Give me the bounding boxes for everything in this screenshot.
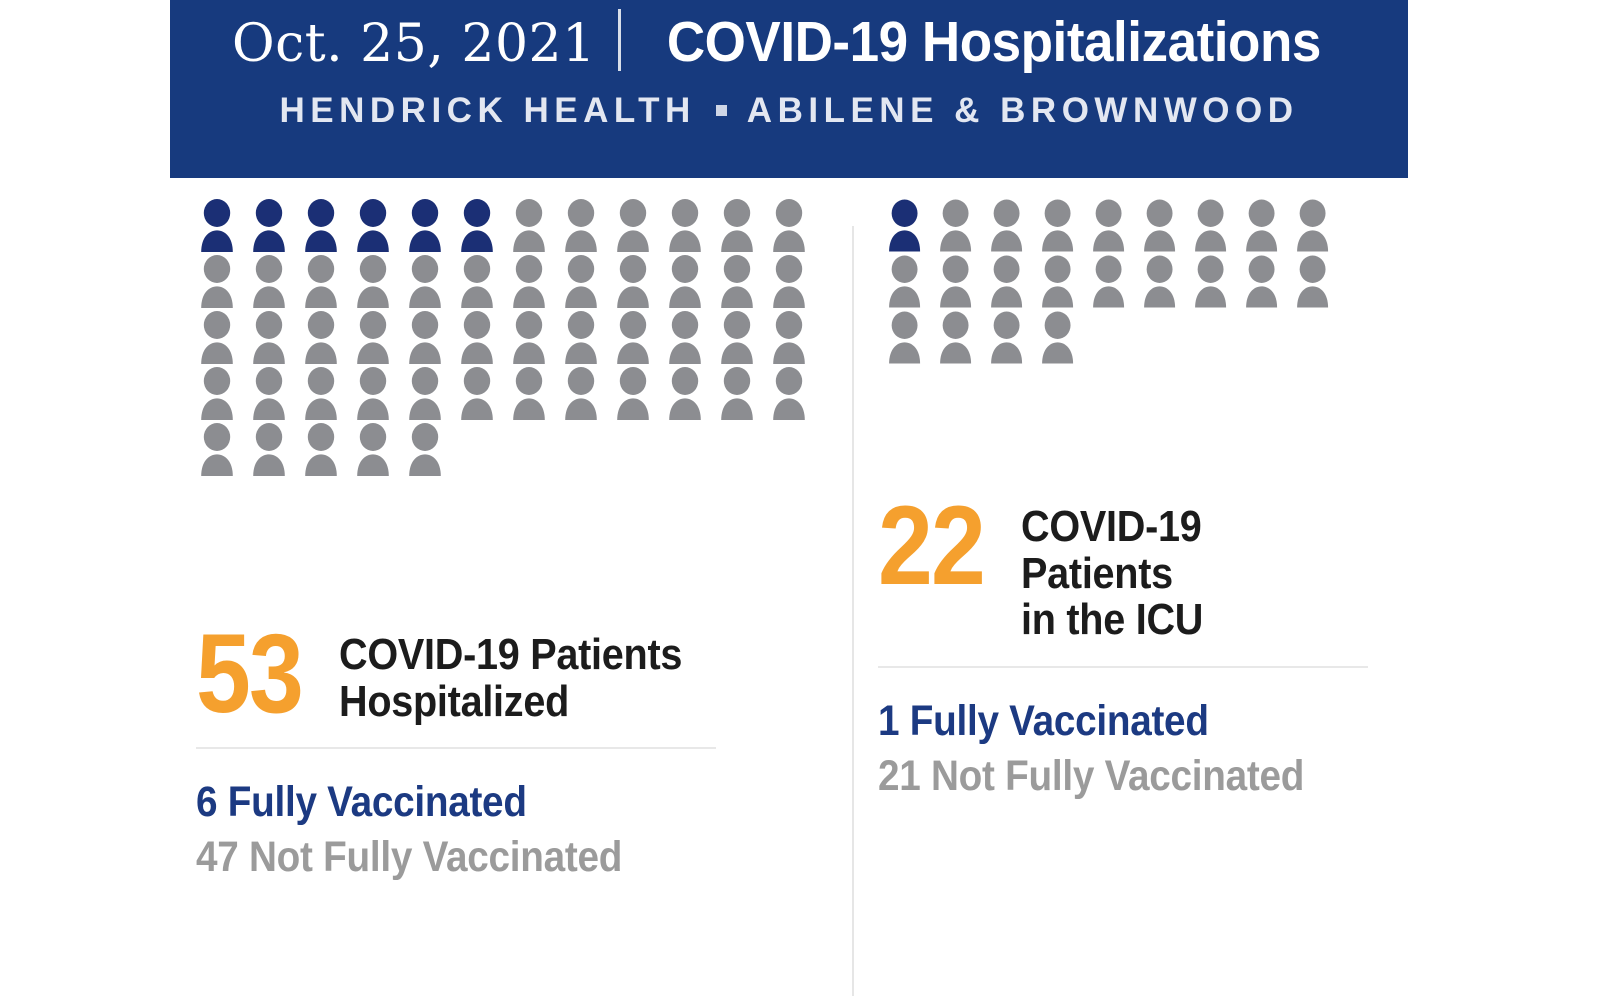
person-icon-not-vaccinated <box>1139 198 1190 254</box>
square-bullet-icon <box>716 105 727 116</box>
person-icon-not-vaccinated <box>1088 198 1139 254</box>
person-icon-not-vaccinated <box>664 366 716 422</box>
pictogram-row <box>196 310 846 366</box>
pictogram-row <box>884 198 1384 254</box>
person-icon-not-vaccinated <box>352 254 404 310</box>
person-icon-not-vaccinated <box>404 310 456 366</box>
person-icon-not-vaccinated <box>508 310 560 366</box>
person-icon-vaccinated <box>352 198 404 254</box>
hospitalized-vaccinated: 6 Fully Vaccinated <box>196 775 700 830</box>
person-icon-not-vaccinated <box>716 310 768 366</box>
person-icon-not-vaccinated <box>508 198 560 254</box>
person-icon-not-vaccinated <box>768 310 820 366</box>
person-icon-not-vaccinated <box>456 366 508 422</box>
person-icon-not-vaccinated <box>768 254 820 310</box>
person-icon-not-vaccinated <box>560 310 612 366</box>
person-icon-not-vaccinated <box>196 422 248 478</box>
person-icon-not-vaccinated <box>1088 254 1139 310</box>
person-icon-not-vaccinated <box>716 366 768 422</box>
person-icon-not-vaccinated <box>508 254 560 310</box>
person-icon-vaccinated <box>300 198 352 254</box>
person-icon-not-vaccinated <box>300 422 352 478</box>
pictogram-row <box>196 254 846 310</box>
person-icon-not-vaccinated <box>300 366 352 422</box>
person-icon-not-vaccinated <box>1190 198 1241 254</box>
icu-label: COVID-19 Patients in the ICU <box>1021 497 1361 644</box>
icu-pictogram-grid <box>884 198 1384 366</box>
person-icon-not-vaccinated <box>404 366 456 422</box>
person-icon-vaccinated <box>196 198 248 254</box>
person-icon-not-vaccinated <box>768 366 820 422</box>
person-icon-not-vaccinated <box>935 198 986 254</box>
person-icon-not-vaccinated <box>1139 254 1190 310</box>
person-icon-not-vaccinated <box>248 310 300 366</box>
pictogram-row <box>196 422 846 478</box>
column-divider <box>852 226 854 996</box>
person-icon-not-vaccinated <box>884 310 935 366</box>
person-icon-not-vaccinated <box>768 198 820 254</box>
person-icon-not-vaccinated <box>560 254 612 310</box>
person-icon-not-vaccinated <box>612 366 664 422</box>
hospitalized-pictogram-grid <box>196 198 846 478</box>
person-icon-not-vaccinated <box>248 366 300 422</box>
icu-stat-block: 22 COVID-19 Patients in the ICU 1 Fully … <box>878 497 1398 804</box>
person-icon-not-vaccinated <box>664 198 716 254</box>
header-title-row: Oct. 25, 2021 COVID-19 Hospitalizations <box>170 14 1408 71</box>
person-icon-not-vaccinated <box>716 254 768 310</box>
person-icon-not-vaccinated <box>986 198 1037 254</box>
person-icon-not-vaccinated <box>1190 254 1241 310</box>
person-icon-not-vaccinated <box>248 422 300 478</box>
person-icon-not-vaccinated <box>612 310 664 366</box>
person-icon-vaccinated <box>404 198 456 254</box>
pictogram-row <box>884 254 1384 310</box>
person-icon-not-vaccinated <box>1241 254 1292 310</box>
header-title-divider <box>618 9 621 71</box>
person-icon-not-vaccinated <box>404 422 456 478</box>
hospitalized-not-vaccinated: 47 Not Fully Vaccinated <box>196 830 700 885</box>
icu-pictogram-panel <box>884 198 1384 366</box>
person-icon-not-vaccinated <box>986 254 1037 310</box>
person-icon-not-vaccinated <box>1037 310 1088 366</box>
icu-headline: 22 COVID-19 Patients in the ICU <box>878 497 1398 644</box>
hospitalized-count: 53 <box>196 625 302 724</box>
person-icon-not-vaccinated <box>456 310 508 366</box>
person-icon-not-vaccinated <box>352 310 404 366</box>
hospitalized-rule <box>196 747 716 749</box>
icu-vaccinated: 1 Fully Vaccinated <box>878 694 1346 749</box>
person-icon-not-vaccinated <box>1292 198 1343 254</box>
person-icon-not-vaccinated <box>1241 198 1292 254</box>
person-icon-not-vaccinated <box>1037 254 1088 310</box>
person-icon-vaccinated <box>248 198 300 254</box>
person-icon-not-vaccinated <box>612 254 664 310</box>
person-icon-not-vaccinated <box>935 310 986 366</box>
person-icon-not-vaccinated <box>196 254 248 310</box>
header-subtitle: HENDRICK HEALTH ABILENE & BROWNWOOD <box>280 93 1299 128</box>
person-icon-not-vaccinated <box>986 310 1037 366</box>
person-icon-not-vaccinated <box>1292 254 1343 310</box>
person-icon-not-vaccinated <box>612 198 664 254</box>
header-date: Oct. 25, 2021 <box>232 18 618 70</box>
icu-rule <box>878 666 1368 668</box>
header-banner: Oct. 25, 2021 COVID-19 Hospitalizations … <box>170 0 1408 178</box>
person-icon-vaccinated <box>456 198 508 254</box>
person-icon-vaccinated <box>884 198 935 254</box>
hospitalized-label: COVID-19 Patients Hospitalized <box>339 625 682 725</box>
icu-count: 22 <box>878 497 984 596</box>
page-title: COVID-19 Hospitalizations <box>646 14 1321 71</box>
person-icon-not-vaccinated <box>1037 198 1088 254</box>
person-icon-not-vaccinated <box>352 422 404 478</box>
person-icon-not-vaccinated <box>664 254 716 310</box>
person-icon-not-vaccinated <box>716 198 768 254</box>
person-icon-not-vaccinated <box>664 310 716 366</box>
hospitalized-headline: 53 COVID-19 Patients Hospitalized <box>196 625 756 725</box>
header-locations: ABILENE & BROWNWOOD <box>747 93 1299 128</box>
person-icon-not-vaccinated <box>404 254 456 310</box>
person-icon-not-vaccinated <box>300 310 352 366</box>
person-icon-not-vaccinated <box>935 254 986 310</box>
person-icon-not-vaccinated <box>196 310 248 366</box>
person-icon-not-vaccinated <box>560 198 612 254</box>
hospitalized-stat-block: 53 COVID-19 Patients Hospitalized 6 Full… <box>196 625 756 885</box>
person-icon-not-vaccinated <box>352 366 404 422</box>
pictogram-row <box>884 310 1384 366</box>
hospitalized-pictogram-panel <box>196 198 846 478</box>
person-icon-not-vaccinated <box>456 254 508 310</box>
header-org-name: HENDRICK HEALTH <box>280 93 696 128</box>
pictogram-row <box>196 366 846 422</box>
person-icon-not-vaccinated <box>560 366 612 422</box>
person-icon-not-vaccinated <box>248 254 300 310</box>
person-icon-not-vaccinated <box>884 254 935 310</box>
icu-not-vaccinated: 21 Not Fully Vaccinated <box>878 749 1346 804</box>
person-icon-not-vaccinated <box>300 254 352 310</box>
pictogram-row <box>196 198 846 254</box>
person-icon-not-vaccinated <box>508 366 560 422</box>
person-icon-not-vaccinated <box>196 366 248 422</box>
